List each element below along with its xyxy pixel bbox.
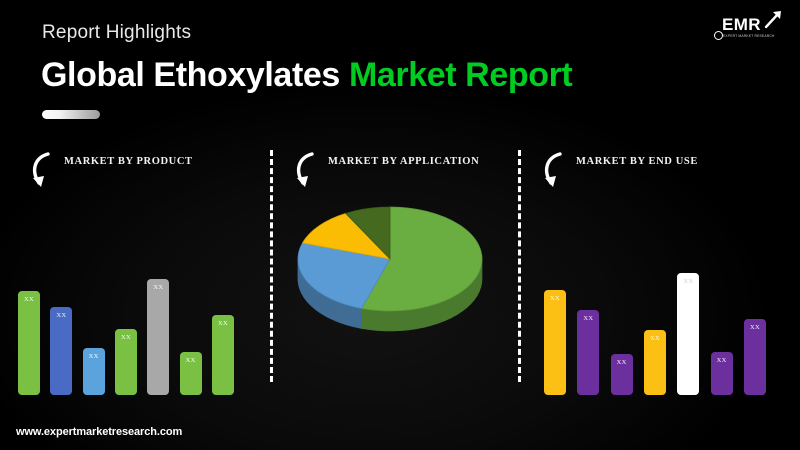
pie-slice-side-1[interactable] [431,303,438,325]
pie-slice-side-1[interactable] [451,295,457,318]
pie-slice-side-2[interactable] [318,291,320,313]
pie-slice-side-2[interactable] [348,305,351,326]
pie-slice-side-2[interactable] [320,293,322,315]
bar-5[interactable]: XX [677,273,699,395]
pie-slice-side-1[interactable] [416,307,424,328]
bar-7[interactable]: XX [212,315,234,395]
pie-slice-side-2[interactable] [355,307,358,328]
pie-slice-side-2[interactable] [325,296,328,317]
bar-6[interactable]: XX [711,352,733,395]
pie-slice-side-2[interactable] [333,300,336,321]
pie-slice-side-1[interactable] [457,292,462,315]
bar-3[interactable]: XX [611,354,633,395]
bar-value-label: XX [153,284,163,291]
pie-slice-side-1[interactable] [369,310,377,331]
panel-title: MARKET BY PRODUCT [64,156,193,167]
bar-2[interactable]: XX [577,310,599,395]
pie-slice-side-2[interactable] [316,290,318,312]
bar-7[interactable]: XX [744,319,766,395]
bar-chart-product: XXXXXXXXXXXXXX [14,195,264,395]
pie-slice-side-1[interactable] [445,298,451,321]
panel-market-by-end-use: MARKET BY END USE XXXXXXXXXXXXXX [526,145,784,395]
bar-value-label: XX [121,334,131,341]
pie-slice-side-2[interactable] [330,299,333,320]
panel-title: MARKET BY END USE [576,156,698,167]
footer-website-url[interactable]: www.expertmarketresearch.com [16,426,182,438]
pie-slice-side-2[interactable] [339,302,342,323]
logo-tagline: EXPERT MARKET RESEARCH [723,34,775,38]
curved-arrow-icon [540,151,570,191]
pie-slice-side-1[interactable] [424,306,431,328]
bar-value-label: XX [550,295,560,302]
bar-value-label: XX [717,357,727,364]
bar-3[interactable]: XX [83,348,105,395]
bar-6[interactable]: XX [180,352,202,395]
pie-slice-side-1[interactable] [377,310,385,330]
pie-slice-side-2[interactable] [328,297,331,318]
pie-slice-side-1[interactable] [393,311,401,331]
bar-5[interactable]: XX [147,279,169,395]
panel-header: MARKET BY END USE [526,145,784,193]
page-title-primary: Global Ethoxylates [41,56,340,94]
bar-value-label: XX [218,320,228,327]
title-underline-bar [42,110,100,119]
pie-slice-side-1[interactable] [438,301,445,324]
logo-arrow-icon [764,9,786,29]
pie-chart-svg [286,193,502,353]
bar-value-label: XX [583,315,593,322]
pie-slice-side-2[interactable] [345,304,348,325]
header: Report Highlights Global Ethoxylates Mar… [0,0,800,130]
emr-logo[interactable]: EMR EXPERT MARKET RESEARCH [708,10,786,48]
page-title: Global Ethoxylates Market Report [41,56,572,95]
bar-4[interactable]: XX [644,330,666,395]
bar-2[interactable]: XX [50,307,72,395]
bar-value-label: XX [24,296,34,303]
panel-market-by-application: MARKET BY APPLICATION [278,145,510,395]
bar-1[interactable]: XX [544,290,566,395]
pie-slice-side-2[interactable] [342,303,345,324]
bar-value-label: XX [89,353,99,360]
logo-wordmark: EMR [722,15,761,35]
section-divider [270,150,273,382]
curved-arrow-icon [292,151,322,191]
bar-value-label: XX [750,324,760,331]
pie-chart-application [286,193,502,353]
bar-value-label: XX [617,359,627,366]
bar-4[interactable]: XX [115,329,137,395]
panel-header: MARKET BY PRODUCT [14,145,264,193]
pie-slice-side-1[interactable] [409,309,417,330]
pie-slice-side-2[interactable] [358,308,361,329]
pie-slice-side-1[interactable] [401,310,409,331]
pie-slice-side-2[interactable] [314,288,316,310]
pie-slice-side-1[interactable] [362,308,370,329]
bar-1[interactable]: XX [18,291,40,395]
curved-arrow-icon [28,151,58,191]
panel-market-by-product: MARKET BY PRODUCT XXXXXXXXXXXXXX [14,145,264,395]
bar-value-label: XX [186,357,196,364]
bar-chart-end-use: XXXXXXXXXXXXXX [526,195,784,395]
pie-slice-side-2[interactable] [336,301,339,322]
panel-header: MARKET BY APPLICATION [278,145,510,193]
panel-title: MARKET BY APPLICATION [328,156,479,167]
page-title-accent: Market Report [349,56,572,94]
bar-value-label: XX [683,278,693,285]
eyebrow-text: Report Highlights [42,22,191,44]
bar-value-label: XX [650,335,660,342]
pie-slice-side-2[interactable] [322,294,325,315]
section-divider [518,150,521,382]
pie-slice-side-1[interactable] [385,311,393,331]
bar-value-label: XX [56,312,66,319]
pie-slice-side-2[interactable] [351,306,354,327]
